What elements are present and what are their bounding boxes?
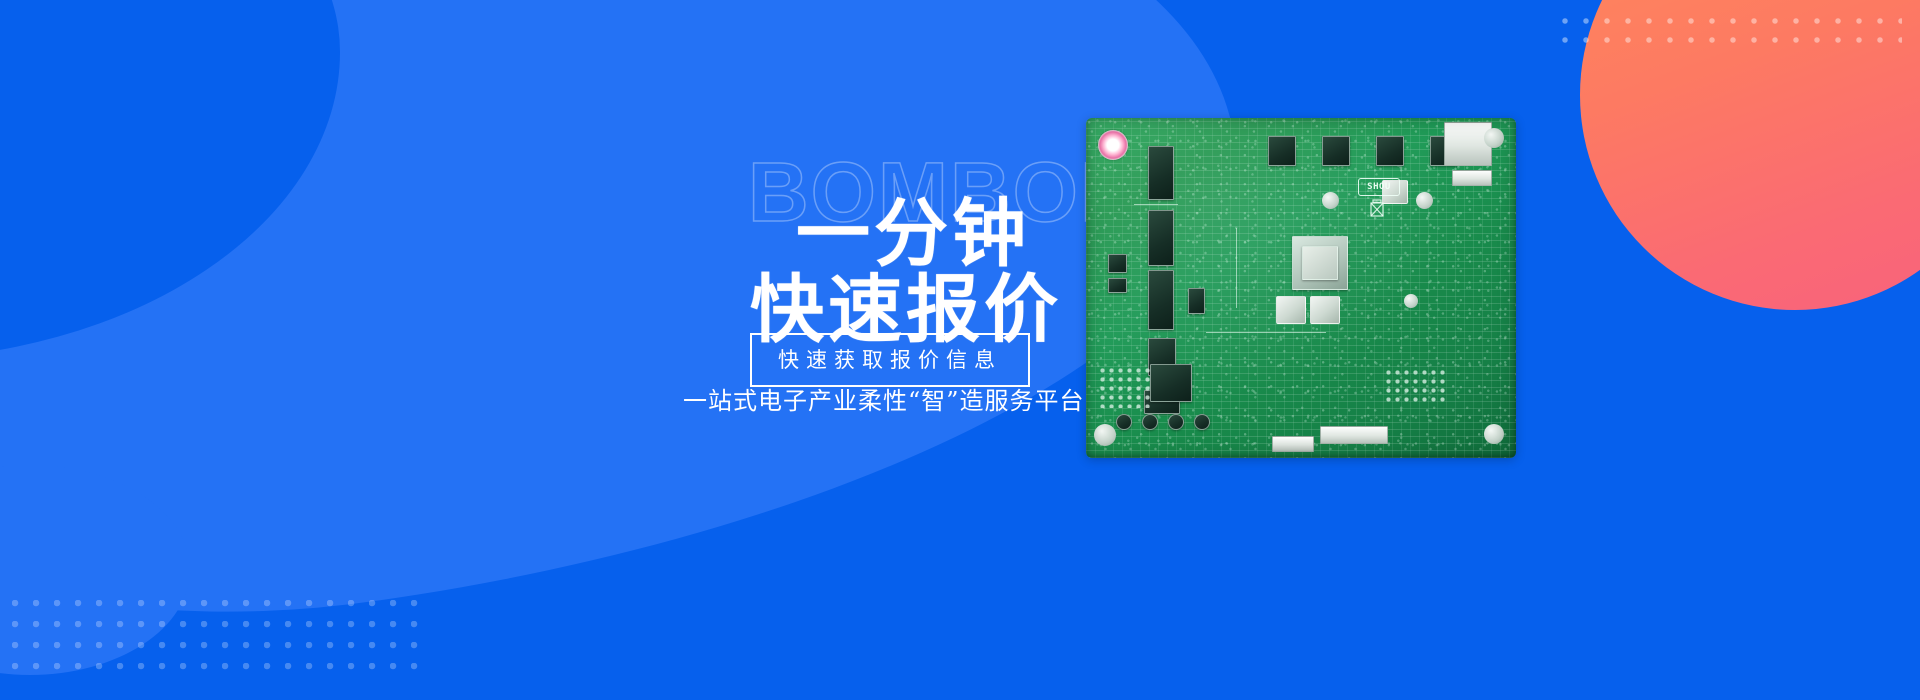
pin-header [1194,414,1210,430]
capacitor [1404,294,1418,308]
solder-pad-array [1100,368,1154,408]
memory-chip [1148,146,1174,200]
power-inductor [1310,296,1340,324]
processor-die [1302,246,1338,280]
headline: 一分钟 快速报价 [750,200,1030,345]
silkscreen-line [1134,204,1178,205]
shou-brand-mark: SHOU [1358,178,1400,196]
pin-header [1116,414,1132,430]
pin-header [1142,414,1158,430]
io-connector [1272,436,1314,452]
pin-header [1168,414,1184,430]
headline-line-1: 一分钟 [750,200,1030,270]
flash-chip [1376,136,1404,166]
banner-text-block: BOMBOM 一分钟 快速报价 快速获取报价信息 一站式电子产业柔性“智”造服务… [0,0,1920,700]
card-slot-connector [1452,170,1492,186]
flash-chip [1268,136,1296,166]
mounting-pad [1094,424,1116,446]
card-slot-connector [1444,122,1492,166]
silkscreen-line [1236,228,1237,308]
banner-stage: BOMBOM 一分钟 快速报价 快速获取报价信息 一站式电子产业柔性“智”造服务… [0,0,1920,700]
silkscreen-line [1206,332,1326,333]
io-connector [1320,426,1388,444]
flash-chip [1322,136,1350,166]
pcb-board-image: SHOU [1086,118,1516,458]
power-inductor [1276,296,1306,324]
pcb-substrate: SHOU [1086,118,1516,458]
qfp-chip [1108,254,1127,273]
tagline: 一站式电子产业柔性“智”造服务平台 [683,381,1085,416]
solder-pad-array [1386,370,1446,404]
memory-chip [1148,270,1174,330]
capacitor [1416,192,1433,209]
bga-chip [1150,364,1192,402]
capacitor [1322,192,1339,209]
qfp-chip [1108,278,1127,293]
memory-chip [1148,210,1174,266]
qfp-chip [1188,288,1205,314]
mounting-hole-pad [1098,130,1128,160]
mounting-pad [1484,128,1504,148]
mounting-pad [1484,424,1504,444]
cta-button[interactable]: 快速获取报价信息 [750,333,1030,387]
weee-crossed-bin-icon [1367,198,1387,220]
